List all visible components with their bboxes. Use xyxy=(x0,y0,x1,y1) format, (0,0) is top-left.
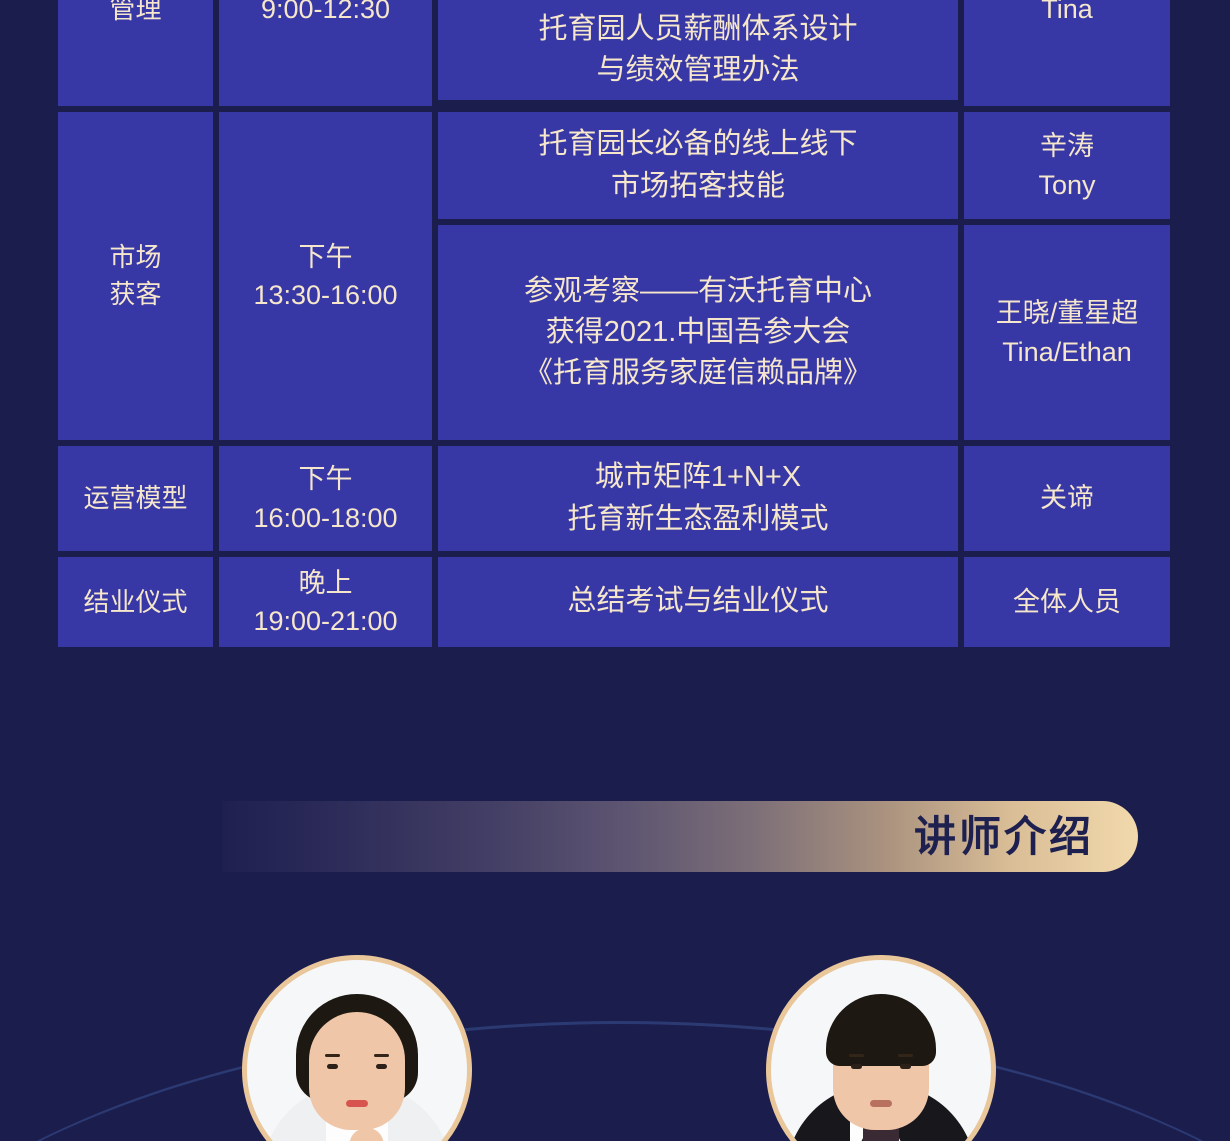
schedule-block-operating-model: 运营模型 下午16:00-18:00 城市矩阵1+N+X托育新生态盈利模式 关谛 xyxy=(58,446,1170,551)
schedule-content-stack: 托育园长必备的线上线下市场拓客技能 辛涛Tony 参观考察——有沃托育中心获得2… xyxy=(438,112,1170,440)
schedule-block-market: 市场获客 下午13:30-16:00 托育园长必备的线上线下市场拓客技能 辛涛T… xyxy=(58,112,1170,440)
schedule-sub-row: 托育园长必备的线上线下市场拓客技能 辛涛Tony xyxy=(438,112,1170,219)
schedule-speaker-cell: Tina xyxy=(964,0,1170,106)
schedule-topic-cell: 结业仪式 xyxy=(58,557,213,647)
schedule-speaker-cell: 王晓/董星超Tina/Ethan xyxy=(964,225,1170,440)
schedule-speaker-cell: 辛涛Tony xyxy=(964,112,1170,219)
schedule-time-cell: 下午13:30-16:00 xyxy=(219,112,432,440)
schedule-content-cell: 总结考试与结业仪式 xyxy=(438,557,958,647)
section-banner-instructors: 讲师介绍 xyxy=(222,801,1138,872)
schedule-topic-cell: 运营模型 xyxy=(58,446,213,551)
schedule-time-cell: 下午16:00-18:00 xyxy=(219,446,432,551)
schedule-topic-cell: 市场获客 xyxy=(58,112,213,440)
portrait-eyebrow xyxy=(898,1054,913,1057)
section-title: 讲师介绍 xyxy=(914,816,1094,858)
schedule-speaker-cell: 全体人员 xyxy=(964,557,1170,647)
portrait-male xyxy=(771,960,991,1141)
portrait-eye xyxy=(851,1064,862,1069)
portrait-eye xyxy=(327,1064,338,1069)
schedule-speaker-cell: 关谛 xyxy=(964,446,1170,551)
schedule-content-cell: 托育园长必备的线上线下市场拓客技能 xyxy=(438,112,958,219)
portrait-mouth xyxy=(346,1100,368,1107)
portrait-eye xyxy=(900,1064,911,1069)
schedule-content-cell: 托育园人员薪酬体系设计与绩效管理办法 xyxy=(438,0,958,100)
schedule-content-cell: 参观考察——有沃托育中心获得2021.中国吾参大会《托育服务家庭信赖品牌》 xyxy=(438,225,958,440)
portrait-eyebrow xyxy=(849,1054,864,1057)
schedule-topic-cell: 管理 xyxy=(58,0,213,106)
avatar xyxy=(242,955,472,1141)
portrait-female xyxy=(247,960,467,1141)
schedule-time-cell: 晚上19:00-21:00 xyxy=(219,557,432,647)
poster-page: 管理 9:00-12:30 托育人员选用与留存 托育园人员薪酬体系设计与绩效管理… xyxy=(0,0,1230,1141)
portrait-mouth xyxy=(870,1100,892,1107)
portrait-hair xyxy=(826,994,936,1066)
portrait-face xyxy=(309,1012,405,1130)
schedule-time-cell: 9:00-12:30 xyxy=(219,0,432,106)
portrait-eye xyxy=(376,1064,387,1069)
avatar xyxy=(766,955,996,1141)
schedule-sub-row: 托育园人员薪酬体系设计与绩效管理办法 xyxy=(438,0,958,100)
instructor-avatar-row xyxy=(0,955,1230,1141)
schedule-block-closing-ceremony: 结业仪式 晚上19:00-21:00 总结考试与结业仪式 全体人员 xyxy=(58,557,1170,647)
schedule-block-management: 管理 9:00-12:30 托育人员选用与留存 托育园人员薪酬体系设计与绩效管理… xyxy=(58,0,1170,106)
schedule-content-cell: 城市矩阵1+N+X托育新生态盈利模式 xyxy=(438,446,958,551)
schedule-sub-row: 参观考察——有沃托育中心获得2021.中国吾参大会《托育服务家庭信赖品牌》 王晓… xyxy=(438,225,1170,440)
portrait-eyebrow xyxy=(374,1054,389,1057)
schedule-table: 管理 9:00-12:30 托育人员选用与留存 托育园人员薪酬体系设计与绩效管理… xyxy=(58,0,1170,647)
portrait-eyebrow xyxy=(325,1054,340,1057)
schedule-content-stack: 托育人员选用与留存 托育园人员薪酬体系设计与绩效管理办法 xyxy=(438,0,958,106)
